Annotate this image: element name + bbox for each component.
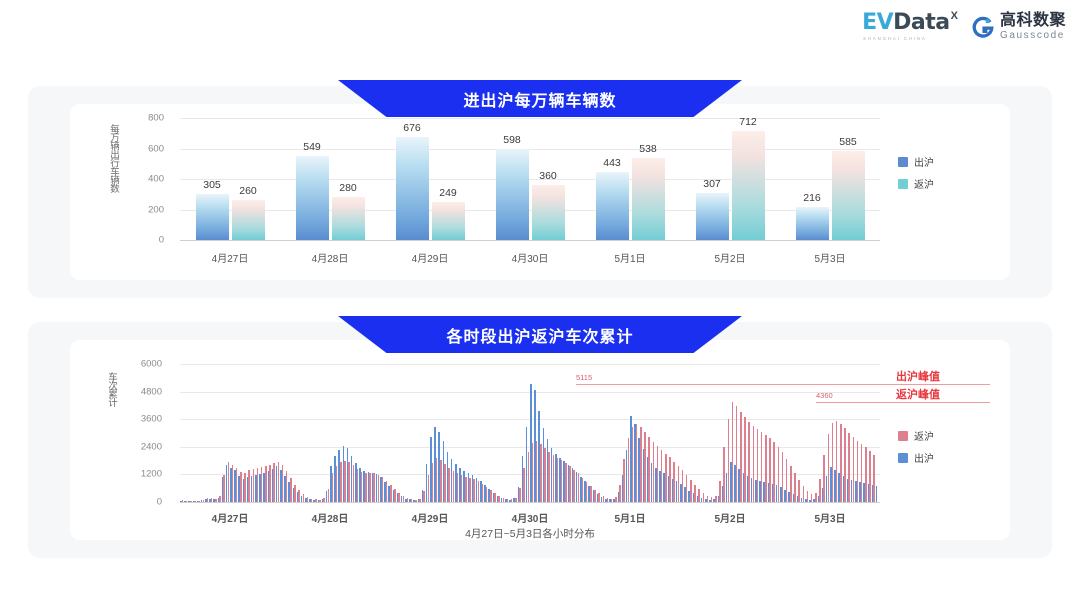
logo-group: EVData X SHANGHAI CHINA 高科数聚 Gausscode — [862, 12, 1066, 41]
y-tick-label: 3600 — [128, 414, 162, 425]
legend-label: 返沪 — [914, 176, 934, 191]
bar-hourly — [648, 437, 650, 502]
bar-hourly — [465, 477, 467, 502]
bar-hourly — [432, 463, 434, 502]
bar-hourly — [503, 498, 505, 502]
bar-hourly — [519, 488, 521, 502]
bar-hourly — [632, 427, 634, 502]
bar-hourly — [532, 443, 534, 502]
bar-hourly — [544, 448, 546, 502]
x-tick-label: 5月2日 — [714, 250, 745, 265]
bar-hourly — [607, 498, 609, 502]
bar-hourly — [740, 412, 742, 502]
bar-hourly — [586, 482, 588, 502]
bar-出沪-5月1日 — [596, 172, 629, 240]
bar-hourly — [744, 417, 746, 502]
legend-item-返沪[interactable]: 返沪 — [898, 176, 934, 191]
peak-label-返沪峰值: 返沪峰值 — [896, 386, 940, 402]
bar-hourly — [328, 489, 330, 502]
bar-出沪-4月30日 — [496, 149, 529, 240]
gridline — [180, 502, 880, 503]
bar-hourly — [773, 442, 775, 502]
bar-hourly — [844, 428, 846, 502]
bar-hourly — [623, 459, 625, 502]
bar-value-label: 249 — [439, 187, 457, 199]
bar-hourly — [798, 480, 800, 502]
x-tick-label: 4月29日 — [412, 250, 449, 265]
bar-hourly — [615, 497, 617, 502]
bar-hourly — [861, 444, 863, 502]
bar-hourly — [286, 471, 288, 502]
y-tick-label: 0 — [130, 235, 164, 246]
chart-card-vehicles: 每万辆出行车辆数 0200400600800 30526054928067624… — [70, 104, 1010, 280]
bar-value-label: 305 — [203, 179, 221, 191]
y-tick-label: 400 — [130, 174, 164, 185]
bar-value-label: 307 — [703, 178, 721, 190]
evdata-data: Data — [893, 10, 949, 35]
y-tick-label: 200 — [130, 204, 164, 215]
bar-hourly — [311, 499, 313, 502]
peak-value-出沪峰值: 5115 — [576, 373, 592, 382]
bar-hourly — [390, 485, 392, 502]
x-tick-label: 4月30日 — [512, 510, 549, 525]
bar-hourly — [486, 487, 488, 502]
bar-hourly — [876, 486, 878, 502]
legend-swatch — [898, 453, 908, 463]
bar-hourly — [203, 500, 205, 502]
bar-hourly — [673, 462, 675, 502]
bar-hourly — [336, 466, 338, 502]
legend-label: 出沪 — [914, 154, 934, 169]
gausscode-en: Gausscode — [1000, 31, 1066, 41]
bar-hourly — [819, 479, 821, 502]
bar-hourly — [290, 478, 292, 502]
evdata-word: EVData — [862, 12, 950, 34]
bar-hourly — [640, 427, 642, 502]
bar-hourly — [444, 464, 446, 502]
bar-返沪-4月27日 — [232, 200, 265, 240]
bar-hourly — [769, 438, 771, 502]
bar-hourly — [653, 442, 655, 502]
bar-value-label: 712 — [739, 116, 757, 128]
bar-hourly — [569, 466, 571, 502]
bar-hourly — [182, 500, 184, 502]
bar-hourly — [732, 402, 734, 502]
bar-hourly — [686, 475, 688, 502]
bar-hourly — [257, 468, 259, 503]
legend-item-出沪[interactable]: 出沪 — [898, 154, 934, 169]
bar-hourly — [507, 499, 509, 502]
bar-hourly — [523, 468, 525, 502]
bar-hourly — [228, 462, 230, 502]
legend-label: 返沪 — [914, 428, 934, 443]
evdata-logo: EVData X SHANGHAI CHINA — [862, 12, 958, 41]
bar-hourly — [548, 452, 550, 502]
bar-hourly — [494, 493, 496, 502]
x-tick-label: 4月27日 — [212, 510, 249, 525]
x-tick-label: 4月28日 — [312, 510, 349, 525]
bar-hourly — [848, 433, 850, 502]
legend-label: 出沪 — [914, 450, 934, 465]
bar-hourly — [711, 497, 713, 502]
section-banner-vehicles: 进出沪每万辆车辆数 — [338, 80, 742, 117]
bar-hourly — [873, 455, 875, 502]
bar-hourly — [440, 460, 442, 502]
bar-hourly — [811, 494, 813, 502]
x-tick-label: 4月30日 — [512, 250, 549, 265]
bar-hourly — [357, 469, 359, 502]
bar-返沪-5月3日 — [832, 151, 865, 240]
bar-hourly — [307, 497, 309, 502]
bar-hourly — [340, 462, 342, 502]
bar-hourly — [869, 451, 871, 502]
x-tick-label: 5月1日 — [614, 510, 645, 525]
bar-hourly — [598, 493, 600, 502]
bar-hourly — [236, 468, 238, 502]
legend-swatch — [898, 431, 908, 441]
bar-hourly — [332, 473, 334, 502]
bar-hourly — [186, 501, 188, 502]
bar-hourly — [707, 496, 709, 502]
bar-hourly — [315, 499, 317, 502]
bar-hourly — [836, 421, 838, 502]
bar-hourly — [323, 498, 325, 502]
bar-hourly — [603, 496, 605, 502]
bar-hourly — [382, 477, 384, 502]
bar-hourly — [294, 485, 296, 502]
bar-hourly — [619, 485, 621, 502]
bar-hourly — [448, 468, 450, 502]
bar-hourly — [515, 498, 517, 502]
bar-hourly — [248, 470, 250, 502]
bar-hourly — [407, 498, 409, 502]
bar-value-label: 360 — [539, 170, 557, 182]
bar-hourly — [478, 481, 480, 502]
banner-title: 进出沪每万辆车辆数 — [463, 87, 616, 111]
bar-hourly — [678, 466, 680, 502]
x-tick-label: 4月27日 — [212, 250, 249, 265]
bar-value-label: 598 — [503, 134, 521, 146]
bar-hourly — [803, 486, 805, 502]
bar-hourly — [361, 472, 363, 502]
bar-hourly — [765, 435, 767, 502]
bar-hourly — [403, 496, 405, 502]
bar-hourly — [748, 422, 750, 502]
bar-hourly — [840, 424, 842, 502]
bar-hourly — [269, 465, 271, 502]
bar-value-label: 538 — [639, 143, 657, 155]
bar-hourly — [453, 471, 455, 502]
bar-出沪-4月28日 — [296, 156, 329, 240]
bar-hourly — [386, 481, 388, 502]
bar-hourly — [753, 426, 755, 502]
bar-hourly — [561, 460, 563, 502]
bar-hourly — [715, 496, 717, 502]
bar-hourly — [661, 450, 663, 502]
y-tick-label: 0 — [128, 497, 162, 508]
bar-hourly — [728, 419, 730, 502]
bar-chart-hourly: 车次累计 012002400360048006000 4月27日4月28日4月2… — [70, 340, 1010, 540]
bar-hourly — [794, 473, 796, 502]
bar-hourly — [565, 463, 567, 502]
section-panel-vehicles: 每万辆出行车辆数 0200400600800 30526054928067624… — [28, 86, 1052, 298]
bar-hourly — [786, 459, 788, 502]
bar-hourly — [490, 490, 492, 502]
legend-swatch — [898, 157, 908, 167]
bar-hourly — [419, 499, 421, 502]
y-tick-label: 1200 — [128, 469, 162, 480]
bar-hourly — [423, 491, 425, 502]
peak-value-返沪峰值: 4360 — [816, 391, 833, 400]
bar-hourly — [865, 447, 867, 502]
bar-hourly — [815, 493, 817, 502]
bar-hourly — [553, 455, 555, 502]
bar-value-label: 216 — [803, 192, 821, 204]
bar-hourly — [344, 461, 346, 502]
peak-line-返沪峰值 — [816, 402, 990, 403]
gausscode-logo: 高科数聚 Gausscode — [972, 13, 1066, 41]
chart-card-hourly: 车次累计 012002400360048006000 4月27日4月28日4月2… — [70, 340, 1010, 540]
evdata-ev: EV — [862, 10, 893, 35]
y-tick-label: 2400 — [128, 441, 162, 452]
bar-hourly — [469, 478, 471, 502]
bar-hourly — [482, 484, 484, 502]
bar-返沪-4月29日 — [432, 202, 465, 240]
bar-hourly — [411, 499, 413, 502]
bar-hourly — [578, 473, 580, 502]
bar-hourly — [278, 462, 280, 502]
bar-hourly — [536, 441, 538, 502]
chart-legend: 出沪返沪 — [898, 154, 934, 198]
bar-hourly — [369, 473, 371, 502]
bar-hourly — [682, 470, 684, 502]
bar-hourly — [498, 496, 500, 502]
bar-hourly — [436, 458, 438, 502]
evdata-superscript-icon: X — [951, 10, 958, 22]
bar-hourly — [736, 406, 738, 502]
bar-hourly — [265, 466, 267, 502]
x-tick-label: 4月29日 — [412, 510, 449, 525]
bar-hourly — [511, 499, 513, 502]
plot-area: 3052605492806762495983604435383077122165… — [180, 118, 880, 240]
y-axis-title: 每万辆出行车辆数 — [106, 124, 120, 240]
bar-hourly — [378, 475, 380, 502]
bar-value-label: 676 — [403, 122, 421, 134]
section-panel-hourly: 车次累计 012002400360048006000 4月27日4月28日4月2… — [28, 322, 1052, 558]
bar-hourly — [757, 429, 759, 502]
bar-出沪-5月3日 — [796, 207, 829, 240]
x-axis-caption: 4月27日~5月3日各小时分布 — [180, 526, 880, 541]
bar-hourly — [261, 467, 263, 502]
bar-hourly — [590, 486, 592, 502]
x-tick-label: 5月1日 — [614, 250, 645, 265]
bar-hourly — [461, 475, 463, 502]
legend-item-出沪[interactable]: 出沪 — [898, 450, 934, 465]
bar-hourly — [244, 473, 246, 502]
gausscode-text: 高科数聚 Gausscode — [1000, 13, 1066, 41]
bar-hourly — [415, 500, 417, 502]
bar-hourly — [636, 424, 638, 502]
bar-hourly — [719, 481, 721, 502]
y-tick-label: 800 — [130, 113, 164, 124]
x-tick-label: 4月28日 — [312, 250, 349, 265]
bar-hourly — [232, 465, 234, 502]
bar-hourly — [394, 489, 396, 502]
bar-hourly — [282, 465, 284, 502]
bar-hourly — [198, 501, 200, 502]
bar-hourly — [573, 470, 575, 502]
legend-item-返沪[interactable]: 返沪 — [898, 428, 934, 443]
bar-hourly — [853, 437, 855, 502]
evdata-wordmark: EVData X — [862, 12, 958, 34]
bar-hourly — [428, 475, 430, 502]
section-banner-hourly: 各时段出沪返沪车次累计 — [338, 316, 742, 353]
legend-swatch — [898, 179, 908, 189]
y-tick-label: 6000 — [128, 359, 162, 370]
bar-hourly — [207, 498, 209, 502]
bar-hourly — [557, 458, 559, 502]
bar-value-label: 260 — [239, 185, 257, 197]
y-axis-title: 车次累计 — [104, 372, 118, 494]
bar-hourly — [219, 496, 221, 502]
gausscode-mark-icon — [972, 16, 994, 38]
bar-出沪-5月2日 — [696, 193, 729, 240]
bar-hourly — [594, 490, 596, 502]
bar-hourly — [807, 491, 809, 502]
bar-hourly — [223, 475, 225, 502]
bar-返沪-5月2日 — [732, 131, 765, 240]
evdata-subtitle: SHANGHAI CHINA — [863, 36, 927, 41]
bar-hourly — [823, 455, 825, 502]
bar-hourly — [694, 485, 696, 502]
y-tick-label: 4800 — [128, 386, 162, 397]
bar-hourly — [857, 441, 859, 502]
gausscode-cn: 高科数聚 — [1000, 13, 1066, 29]
y-tick-label: 600 — [130, 143, 164, 154]
bar-出沪-4月29日 — [396, 137, 429, 240]
bar-hourly — [348, 462, 350, 502]
bar-hourly — [240, 472, 242, 502]
bar-hourly — [761, 432, 763, 502]
bar-hourly — [319, 500, 321, 502]
bar-出沪-4月27日 — [196, 194, 229, 241]
bar-value-label: 549 — [303, 141, 321, 153]
bar-hourly — [665, 454, 667, 502]
bar-hourly — [644, 432, 646, 502]
bar-hourly — [215, 499, 217, 502]
bar-hourly — [373, 473, 375, 502]
bar-返沪-4月28日 — [332, 197, 365, 240]
bar-hourly — [703, 493, 705, 502]
bar-hourly — [832, 423, 834, 502]
bar-hourly — [190, 501, 192, 502]
bar-返沪-4月30日 — [532, 185, 565, 240]
banner-title: 各时段出沪返沪车次累计 — [446, 323, 633, 347]
bar-hourly — [698, 489, 700, 502]
bar-hourly — [457, 473, 459, 502]
bar-hourly — [690, 480, 692, 502]
bar-hourly — [365, 473, 367, 502]
bar-value-label: 585 — [839, 136, 857, 148]
x-tick-label: 5月3日 — [814, 510, 845, 525]
x-tick-label: 5月3日 — [814, 250, 845, 265]
bar-hourly — [782, 452, 784, 502]
bar-hourly — [669, 457, 671, 502]
bar-hourly — [611, 499, 613, 502]
bar-hourly — [657, 446, 659, 502]
bar-hourly — [528, 452, 530, 502]
bar-hourly — [790, 466, 792, 502]
bar-hourly — [211, 498, 213, 502]
bar-hourly — [303, 494, 305, 502]
bar-hourly — [398, 493, 400, 502]
bar-value-label: 443 — [603, 157, 621, 169]
bar-hourly — [628, 438, 630, 502]
chart-legend: 返沪出沪 — [898, 428, 934, 472]
bar-hourly — [582, 478, 584, 502]
bar-hourly — [723, 447, 725, 502]
bar-hourly — [473, 479, 475, 502]
bar-chart-vehicles: 每万辆出行车辆数 0200400600800 30526054928067624… — [70, 104, 1010, 280]
bar-value-label: 280 — [339, 182, 357, 194]
page-header: EVData X SHANGHAI CHINA 高科数聚 Gausscode — [0, 0, 1080, 62]
gridline — [180, 240, 880, 241]
bar-hourly — [353, 465, 355, 502]
bar-hourly — [540, 444, 542, 502]
peak-label-出沪峰值: 出沪峰值 — [896, 368, 940, 384]
bar-hourly — [828, 434, 830, 502]
bar-hourly — [273, 463, 275, 502]
bar-hourly — [778, 447, 780, 502]
bar-返沪-5月1日 — [632, 158, 665, 240]
bar-hourly — [194, 501, 196, 502]
bar-hourly — [253, 469, 255, 502]
bar-hourly — [298, 490, 300, 502]
x-tick-label: 5月2日 — [714, 510, 745, 525]
